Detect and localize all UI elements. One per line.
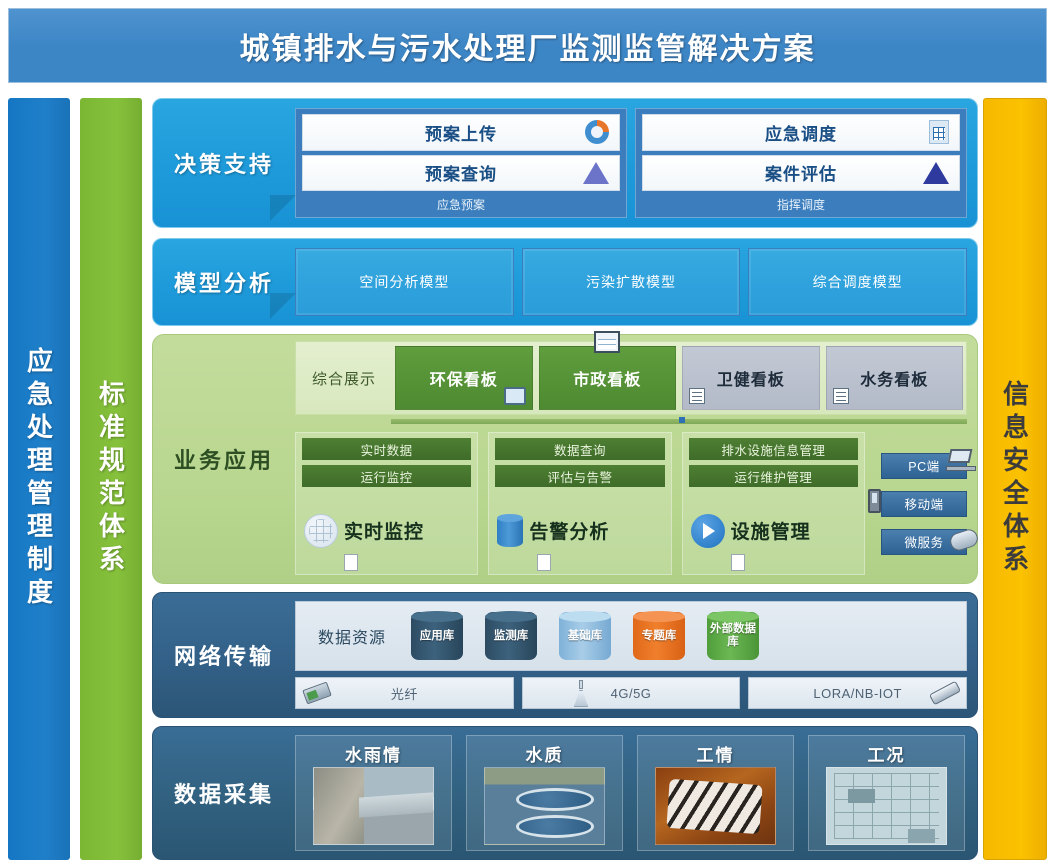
business-pill-drainage-facility-info[interactable]: 排水设施信息管理 [689,438,858,460]
database-label: 专题库 [642,630,677,643]
doc-icon [689,388,705,404]
decision-group-emergency-plan: 预案上传 预案查询 应急预案 [295,108,627,218]
band-label-decision-support: 决策支持 [153,99,295,227]
business-main-label: 实时监控 [344,517,424,544]
dashboard-card-health[interactable]: 卫健看板 [682,346,820,410]
pillar-emergency-management: 应急处理管理制度 [8,98,70,860]
monitor-icon [504,387,526,405]
pyramid-dark-icon [923,162,949,184]
database-label: 外部数据库 [707,623,759,648]
database-external[interactable]: 外部数据库 [707,612,759,660]
pillar-information-security: 信息安全体系 [983,98,1047,860]
page-title: 城镇排水与污水处理厂监测监管解决方案 [240,24,816,68]
data-resource-row: 数据资源 应用库 监测库 基础库 专题库 外部数据库 [295,601,967,671]
pillar-label: 信息安全体系 [997,380,1034,578]
model-item-label: 污染扩散模型 [586,272,676,292]
data-card-label: 水质 [470,739,619,767]
laptop-icon [946,449,976,471]
model-item-integrated-dispatch[interactable]: 综合调度模型 [748,248,967,316]
transport-4g5g[interactable]: 4G/5G [522,677,741,709]
globe-icon [304,514,338,548]
model-item-label: 综合调度模型 [813,272,903,292]
business-pill-label: 运行维护管理 [734,467,812,486]
cylinder-icon [497,515,523,547]
business-pill-label: 排水设施信息管理 [721,440,825,459]
business-main-realtime-monitoring[interactable]: 实时监控 [302,492,471,569]
decision-item-label: 案件评估 [765,160,837,185]
pillar-label: 应急处理管理制度 [21,347,58,611]
data-card-water-quality[interactable]: 水质 [466,735,623,851]
decision-item-plan-query[interactable]: 预案查询 [302,155,620,192]
band-network-transmission: 网络传输 数据资源 应用库 监测库 基础库 专题库 外部数据库 光纤 4G/5G [152,592,978,718]
pipeline-photo [655,767,776,845]
pillar-standards-system: 标准规范体系 [80,98,142,860]
business-columns: 实时数据 运行监控 实时监控 数据查询 [295,432,967,575]
transport-lora-nbiot[interactable]: LORA/NB-IOT [748,677,967,709]
device-icon [948,527,980,553]
dashboard-caption: 综合展示 [296,342,392,414]
data-card-rainfall[interactable]: 水雨情 [295,735,452,851]
business-pill-label: 数据查询 [554,440,606,459]
data-card-label: 水雨情 [299,739,448,767]
doc-icon [833,388,849,404]
dashboard-divider [391,419,967,424]
database-foundation[interactable]: 基础库 [559,612,611,660]
decision-group-caption: 应急预案 [302,195,620,215]
terminal-microservice[interactable]: 微服务 [881,529,967,555]
decision-item-label: 预案查询 [425,160,497,185]
band-label-data-acquisition: 数据采集 [153,727,295,859]
dashboard-card-environment[interactable]: 环保看板 [395,346,533,410]
business-pill-assessment-alarm[interactable]: 评估与告警 [495,465,664,487]
scada-diagram-photo [826,767,947,845]
transport-label: 4G/5G [611,686,652,701]
decision-item-emergency-dispatch[interactable]: 应急调度 [642,114,960,151]
model-item-pollution-diffusion[interactable]: 污染扩散模型 [522,248,741,316]
band-data-acquisition: 数据采集 水雨情 水质 工情 工况 [152,726,978,860]
business-main-alarm-analysis[interactable]: 告警分析 [495,492,664,569]
business-pill-label: 评估与告警 [547,467,612,486]
business-column-query-alarm: 数据查询 评估与告警 告警分析 [488,432,671,575]
terminal-label: PC端 [908,456,939,475]
business-main-label: 设施管理 [731,517,811,544]
architecture-stack: 决策支持 预案上传 预案查询 应急预案 应急调度 [152,98,978,860]
dashboard-row: 综合展示 环保看板 市政看板 卫健看板 水务看板 [295,341,967,415]
database-label: 应用库 [420,630,455,643]
water-quality-photo [484,767,605,845]
database-monitoring[interactable]: 监测库 [485,612,537,660]
band-arrow-icon [270,293,296,319]
lora-device-icon [929,681,961,706]
business-column-facility: 排水设施信息管理 运行维护管理 设施管理 [682,432,865,575]
transport-label: LORA/NB-IOT [813,686,902,701]
pillar-label: 标准规范体系 [93,380,130,578]
terminal-list: PC端 移动端 微服务 [875,432,967,575]
phone-icon [868,489,881,513]
decision-item-case-assessment[interactable]: 案件评估 [642,155,960,192]
pyramid-icon [583,162,609,184]
decision-item-label: 预案上传 [425,120,497,145]
database-label: 监测库 [494,630,529,643]
play-icon [691,514,725,548]
dashboard-card-label: 水务看板 [860,366,928,390]
business-pill-operation-maintenance[interactable]: 运行维护管理 [689,465,858,487]
band-model-analysis: 模型分析 空间分析模型 污染扩散模型 综合调度模型 [152,238,978,326]
page-title-bar: 城镇排水与污水处理厂监测监管解决方案 [8,8,1047,83]
cable-icon [302,682,332,705]
doc-icon [344,554,358,571]
window-icon [594,331,620,353]
band-arrow-icon [270,195,296,221]
band-label-network-transmission: 网络传输 [153,593,295,717]
business-main-facility-management[interactable]: 设施管理 [689,492,858,569]
band-label-business-application: 业务应用 [153,335,295,583]
transport-label: 光纤 [391,684,418,703]
data-card-works-status[interactable]: 工情 [637,735,794,851]
business-main-label: 告警分析 [529,517,609,544]
dashboard-card-municipal[interactable]: 市政看板 [539,346,677,410]
data-resource-caption: 数据资源 [306,624,398,648]
business-pill-operation-monitoring[interactable]: 运行监控 [302,465,471,487]
data-card-label: 工情 [641,739,790,767]
business-pill-realtime-data[interactable]: 实时数据 [302,438,471,460]
terminal-label: 移动端 [904,494,943,513]
database-application[interactable]: 应用库 [411,612,463,660]
doc-icon [537,554,551,571]
decision-group-command-dispatch: 应急调度 案件评估 指挥调度 [635,108,967,218]
data-card-label: 工况 [812,739,961,767]
terminal-label: 微服务 [904,532,943,551]
rainfall-photo [313,767,434,845]
band-label-model-analysis: 模型分析 [153,239,295,325]
dashboard-card-label: 环保看板 [430,366,498,390]
business-column-monitoring: 实时数据 运行监控 实时监控 [295,432,478,575]
database-label: 基础库 [568,630,603,643]
data-card-operating-condition[interactable]: 工况 [808,735,965,851]
antenna-tower-icon [573,680,589,707]
cycle-icon [585,120,609,144]
business-pill-data-query[interactable]: 数据查询 [495,438,664,460]
dashboard-card-label: 市政看板 [573,366,641,390]
model-item-spatial[interactable]: 空间分析模型 [295,248,514,316]
dashboard-card-label: 卫健看板 [717,366,785,390]
business-pill-label: 实时数据 [361,440,413,459]
model-item-label: 空间分析模型 [359,272,449,292]
database-thematic[interactable]: 专题库 [633,612,685,660]
business-pill-label: 运行监控 [361,467,413,486]
decision-item-plan-upload[interactable]: 预案上传 [302,114,620,151]
terminal-pc[interactable]: PC端 [881,453,967,479]
terminal-mobile[interactable]: 移动端 [881,491,967,517]
transport-fiber[interactable]: 光纤 [295,677,514,709]
band-business-application: 业务应用 综合展示 环保看板 市政看板 卫健看板 水务看板 [152,334,978,584]
decision-item-label: 应急调度 [765,120,837,145]
band-decision-support: 决策支持 预案上传 预案查询 应急预案 应急调度 [152,98,978,228]
decision-group-caption: 指挥调度 [642,195,960,215]
dashboard-card-water-affairs[interactable]: 水务看板 [826,346,964,410]
doc-icon [731,554,745,571]
grid-table-icon [929,120,949,144]
transport-row: 光纤 4G/5G LORA/NB-IOT [295,677,967,709]
